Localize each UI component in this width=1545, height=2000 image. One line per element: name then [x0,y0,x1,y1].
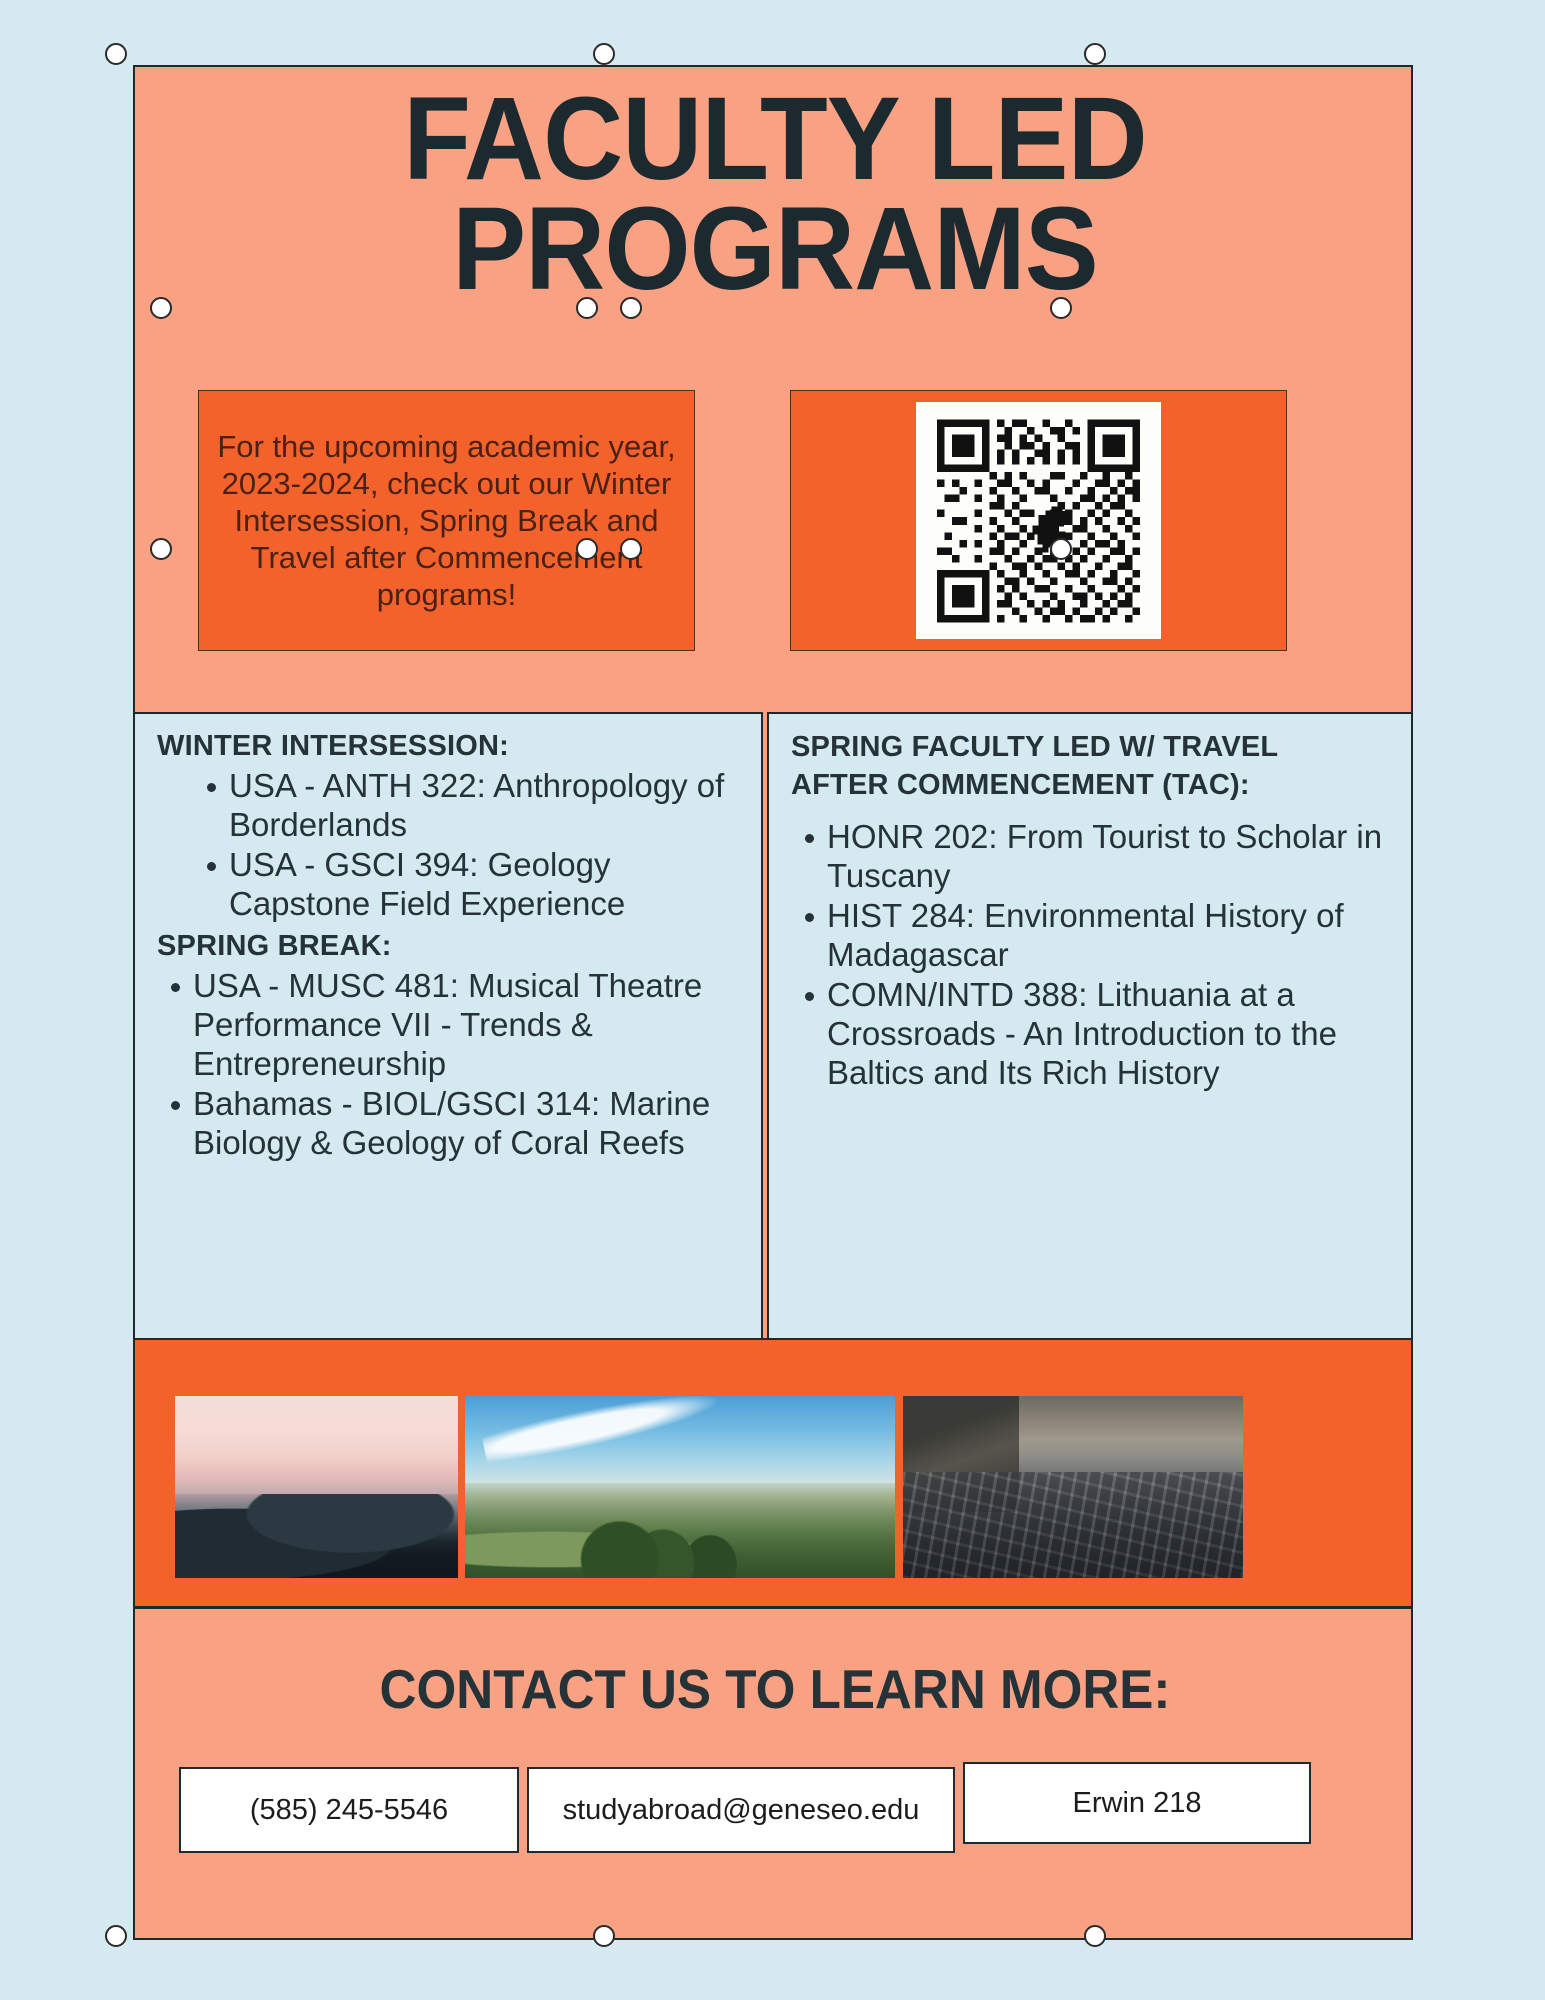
tac-heading-line-1: SPRING FACULTY LED W/ TRAVEL [791,730,1393,764]
qr-handle-top-right[interactable] [1050,297,1072,319]
selection-handle-bottom-right[interactable] [1084,1925,1106,1947]
cobblestone-street-photo [903,1396,1243,1578]
title-line-1: FACULTY LED [173,85,1376,195]
tuscany-valley-photo [465,1396,895,1578]
program-columns: WINTER INTERSESSION: USA - ANTH 322: Ant… [133,712,1413,1340]
list-item: USA - GSCI 394: Geology Capstone Field E… [205,846,743,924]
tac-heading-line-2: AFTER COMMENCEMENT (TAC): [791,768,1393,802]
left-column-panel: WINTER INTERSESSION: USA - ANTH 322: Ant… [133,712,763,1340]
page-title: FACULTY LED PROGRAMS [135,85,1415,304]
qr-handle-bottom-left[interactable] [620,538,642,560]
qr-code-box[interactable] [790,390,1287,651]
tac-list: HONR 202: From Tourist to Scholar in Tus… [791,818,1393,1093]
promo-handle-bottom-left[interactable] [150,538,172,560]
email-chip[interactable]: studyabroad@geneseo.edu [527,1767,955,1853]
qr-code-icon[interactable] [916,402,1161,639]
winter-intersession-list: USA - ANTH 322: Anthropology of Borderla… [157,767,743,924]
right-column-panel: SPRING FACULTY LED W/ TRAVEL AFTER COMME… [767,712,1413,1340]
winter-intersession-heading: WINTER INTERSESSION: [157,730,743,763]
qr-handle-top-left[interactable] [620,297,642,319]
contact-section: CONTACT US TO LEARN MORE: (585) 245-5546… [133,1606,1413,1940]
list-item: HONR 202: From Tourist to Scholar in Tus… [803,818,1393,896]
promo-text: For the upcoming academic year, 2023-202… [199,428,694,614]
promo-handle-top-right[interactable] [576,297,598,319]
poster-canvas: FACULTY LED PROGRAMS For the upcoming ac… [0,0,1545,2000]
title-line-2: PROGRAMS [173,195,1376,305]
contact-title: CONTACT US TO LEARN MORE: [180,1657,1370,1721]
spring-break-heading: SPRING BREAK: [157,930,743,963]
selection-handle-top-right[interactable] [1084,43,1106,65]
spring-break-list: USA - MUSC 481: Musical Theatre Performa… [157,967,743,1163]
promo-handle-bottom-right[interactable] [576,538,598,560]
selection-handle-bottom-center[interactable] [593,1925,615,1947]
promo-handle-top-left[interactable] [150,297,172,319]
list-item: HIST 284: Environmental History of Madag… [803,897,1393,975]
dusk-mountain-coast-photo [175,1396,458,1578]
list-item: Bahamas - BIOL/GSCI 314: Marine Biology … [169,1085,743,1163]
selection-handle-bottom-left[interactable] [105,1925,127,1947]
selection-handle-top-left[interactable] [105,43,127,65]
phone-chip[interactable]: (585) 245-5546 [179,1767,519,1853]
list-item: USA - MUSC 481: Musical Theatre Performa… [169,967,743,1084]
qr-handle-bottom-right[interactable] [1050,538,1072,560]
list-item: USA - ANTH 322: Anthropology of Borderla… [205,767,743,845]
photo-strip [133,1338,1413,1606]
selection-handle-top-center[interactable] [593,43,615,65]
room-chip[interactable]: Erwin 218 [963,1762,1311,1844]
promo-text-box[interactable]: For the upcoming academic year, 2023-202… [198,390,695,651]
list-item: COMN/INTD 388: Lithuania at a Crossroads… [803,976,1393,1093]
contact-chips: (585) 245-5546 studyabroad@geneseo.edu E… [179,1762,1371,1853]
